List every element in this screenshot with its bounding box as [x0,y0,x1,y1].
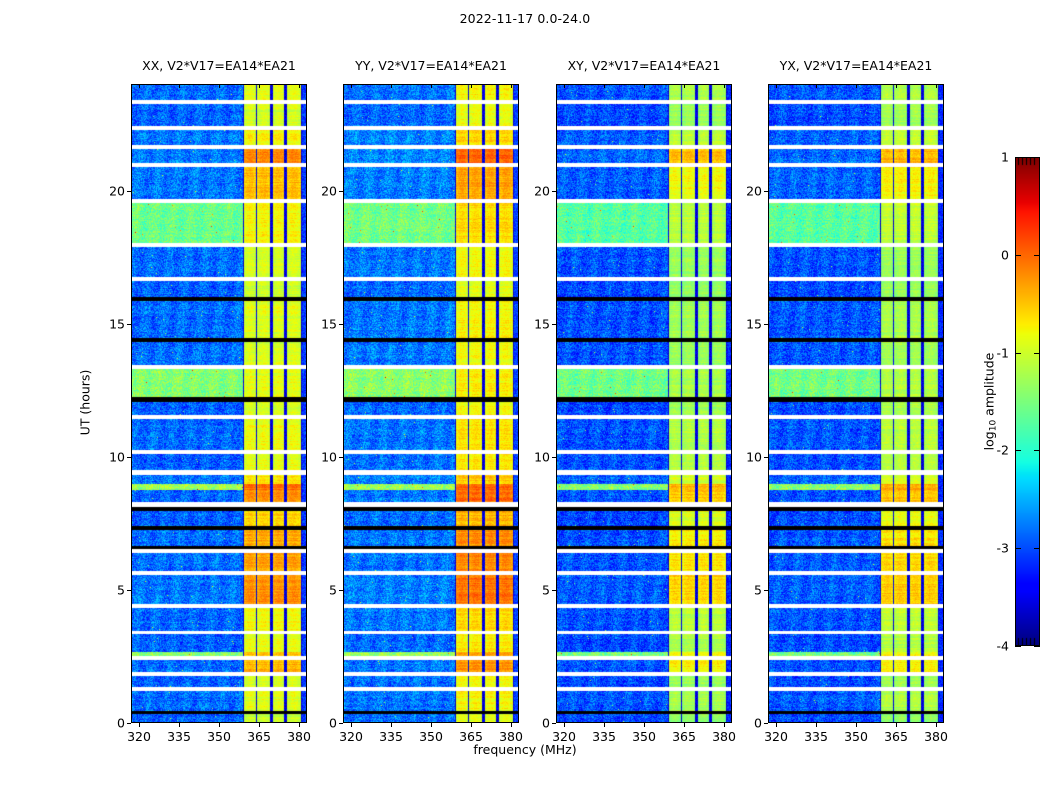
x-tick-mark-top [299,84,300,88]
y-tick-label: 15 [305,316,337,331]
colorbar-gradient [1016,158,1039,645]
x-axis-label: frequency (MHz) [0,742,1050,757]
x-tick-mark-top [259,84,260,88]
y-tick-mark [339,590,343,591]
y-tick-label: 20 [730,183,762,198]
x-tick-mark-top [724,84,725,88]
x-tick-mark [391,723,392,727]
figure-suptitle: 2022-11-17 0.0-24.0 [0,11,1050,26]
x-tick-mark [139,723,140,727]
x-tick-mark [259,723,260,727]
x-tick-mark [219,723,220,727]
colorbar-tick-label: -3 [983,541,1009,556]
colorbar-tick-mark [1015,353,1021,354]
x-tick-mark-top [816,84,817,88]
y-tick-mark [127,723,131,724]
x-tick-mark [816,723,817,727]
y-tick-mark [127,457,131,458]
y-tick-mark [127,324,131,325]
colorbar-tick-mark-right [1034,255,1040,256]
y-tick-label: 15 [730,316,762,331]
x-tick-mark [299,723,300,727]
colorbar-tick-label: 0 [983,247,1009,262]
y-tick-label: 5 [93,582,125,597]
x-tick-mark [684,723,685,727]
colorbar-tick-mark [1015,157,1021,158]
y-tick-mark [339,457,343,458]
x-tick-mark-top [471,84,472,88]
colorbar-tick-mark [1015,646,1021,647]
x-tick-mark-top [856,84,857,88]
y-tick-label: 20 [93,183,125,198]
x-tick-mark-top [391,84,392,88]
x-tick-mark-top [511,84,512,88]
colorbar-tick-label: -4 [983,639,1009,654]
colorbar[interactable] [1015,157,1040,646]
x-tick-mark-top [139,84,140,88]
colorbar-tick-mark-right [1034,353,1040,354]
y-tick-mark [552,191,556,192]
y-tick-label: 0 [518,716,550,731]
y-tick-mark [127,191,131,192]
y-tick-label: 5 [305,582,337,597]
waterfall-image [132,85,306,722]
colorbar-label-tail: amplitude [982,352,997,419]
y-tick-label: 20 [305,183,337,198]
waterfall-image [344,85,518,722]
y-tick-label: 10 [518,449,550,464]
waterfall-panel-xy[interactable] [556,84,732,723]
y-tick-mark [339,191,343,192]
y-tick-mark [552,324,556,325]
y-tick-mark [552,457,556,458]
x-tick-mark-top [896,84,897,88]
y-tick-mark [764,457,768,458]
y-tick-label: 5 [518,582,550,597]
y-tick-mark [764,324,768,325]
y-tick-mark [552,723,556,724]
x-tick-mark [511,723,512,727]
x-tick-mark [564,723,565,727]
colorbar-tick-mark [1015,548,1021,549]
colorbar-tick-label: 1 [983,150,1009,165]
x-tick-mark-top [431,84,432,88]
x-tick-mark [471,723,472,727]
waterfall-panel-xx[interactable] [131,84,307,723]
y-tick-label: 10 [730,449,762,464]
x-tick-mark [776,723,777,727]
x-tick-mark-top [684,84,685,88]
y-tick-label: 10 [93,449,125,464]
colorbar-tick-mark-right [1034,157,1040,158]
y-tick-label: 10 [305,449,337,464]
x-tick-mark [644,723,645,727]
x-tick-mark-top [644,84,645,88]
y-tick-label: 0 [93,716,125,731]
x-tick-mark-top [219,84,220,88]
x-tick-mark [351,723,352,727]
colorbar-tick-mark [1015,450,1021,451]
x-tick-mark-top [179,84,180,88]
panel-title-yx: YX, V2*V17=EA14*EA21 [718,58,994,76]
x-tick-mark-top [604,84,605,88]
waterfall-panel-yy[interactable] [343,84,519,723]
y-axis-label: UT (hours) [78,342,93,462]
y-tick-mark [764,590,768,591]
waterfall-panel-yx[interactable] [768,84,944,723]
x-tick-mark-top [564,84,565,88]
y-tick-label: 15 [93,316,125,331]
x-tick-mark [856,723,857,727]
x-tick-mark [896,723,897,727]
x-tick-mark-top [776,84,777,88]
waterfall-image [769,85,943,722]
x-tick-mark [431,723,432,727]
colorbar-tick-mark-right [1034,450,1040,451]
y-tick-label: 15 [518,316,550,331]
colorbar-label-sub: 10 [989,419,999,430]
y-tick-mark [764,191,768,192]
y-tick-mark [339,324,343,325]
waterfall-image [557,85,731,722]
y-tick-mark [764,723,768,724]
colorbar-label: log10 amplitude [982,336,999,466]
figure-canvas: 2022-11-17 0.0-24.0 XX, V2*V17=EA14*EA21… [0,0,1050,800]
colorbar-tick-mark-right [1034,548,1040,549]
x-tick-mark [724,723,725,727]
x-tick-mark [604,723,605,727]
y-tick-label: 0 [730,716,762,731]
y-tick-label: 20 [518,183,550,198]
x-tick-mark [936,723,937,727]
y-tick-mark [552,590,556,591]
x-tick-mark-top [936,84,937,88]
y-tick-mark [127,590,131,591]
colorbar-tick-mark-right [1034,646,1040,647]
colorbar-label-text: log [982,431,997,450]
x-tick-mark [179,723,180,727]
y-tick-label: 0 [305,716,337,731]
x-tick-mark-top [351,84,352,88]
y-tick-mark [339,723,343,724]
y-tick-label: 5 [730,582,762,597]
colorbar-tick-mark [1015,255,1021,256]
